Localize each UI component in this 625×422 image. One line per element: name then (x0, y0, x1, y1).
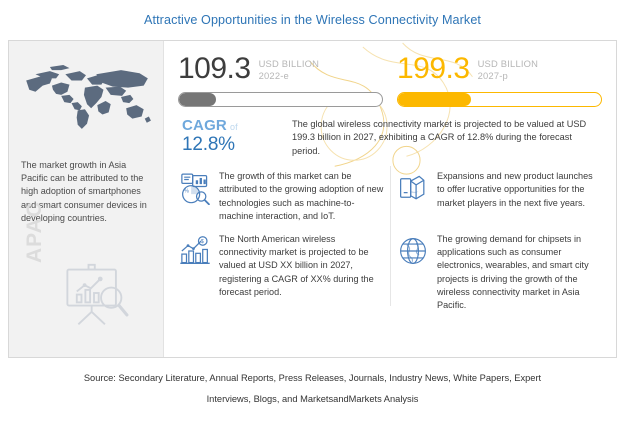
cagr-block: CAGRof 12.8% (178, 117, 282, 158)
kpi-2027: 199.3 USD BILLION 2027-p (397, 53, 602, 107)
kpi-2027-bar (397, 92, 602, 107)
bullet-item-1: % The growth of this market can be attri… (178, 170, 384, 223)
kpi-2022: 109.3 USD BILLION 2022-e (178, 53, 383, 107)
bullet-text-1: The growth of this market can be attribu… (219, 170, 384, 223)
kpi-2027-unit-group: USD BILLION 2027-p (478, 53, 539, 82)
kpi-2022-unit: USD BILLION (259, 58, 320, 69)
title-bar: Attractive Opportunities in the Wireless… (0, 0, 625, 40)
bullet-item-2: Expansions and new product launches to o… (396, 170, 602, 223)
kpi-2022-bar (178, 92, 383, 107)
bullet-text-4: The growing demand for chipsets in appli… (437, 233, 602, 312)
main-card: The market growth in Asia Pacific can be… (8, 40, 617, 358)
bar-chart-growth-dollar-icon: $ (178, 234, 212, 268)
product-launch-box-icon (396, 171, 430, 205)
kpi-2027-year: 2027-p (478, 70, 539, 82)
kpi-2022-unit-group: USD BILLION 2022-e (259, 53, 320, 82)
kpi-2022-year: 2022-e (259, 70, 320, 82)
apac-watermark-block: APAC (9, 241, 163, 351)
bullet-text-3: The North American wireless connectivity… (219, 233, 384, 299)
kpi-2027-head: 199.3 USD BILLION 2027-p (397, 53, 602, 85)
vertical-divider (390, 166, 391, 306)
kpi-2027-bar-fill (398, 93, 471, 106)
kpi-2027-value: 199.3 (397, 53, 470, 85)
page-title: Attractive Opportunities in the Wireless… (144, 13, 481, 27)
bullet-text-2: Expansions and new product launches to o… (437, 170, 602, 210)
kpi-2022-bar-fill (179, 93, 216, 106)
kpi-row: 109.3 USD BILLION 2022-e 199.3 (164, 41, 616, 107)
source-line-1: Source: Secondary Literature, Annual Rep… (0, 368, 625, 389)
cagr-value: 12.8% (182, 134, 282, 156)
intro-paragraph: The global wireless connectivity market … (292, 117, 602, 158)
presentation-chart-magnifier-icon (53, 257, 135, 329)
cagr-label: CAGRof (182, 117, 282, 134)
svg-text:$: $ (201, 239, 204, 245)
cagr-row: CAGRof 12.8% The global wireless connect… (164, 107, 616, 158)
content-panel: 109.3 USD BILLION 2022-e 199.3 (164, 41, 616, 357)
world-map-icon (20, 60, 154, 138)
source-footer: Source: Secondary Literature, Annual Rep… (0, 358, 625, 410)
cagr-of-text: of (227, 122, 238, 132)
kpi-2027-unit: USD BILLION (478, 58, 539, 69)
globe-icon (396, 234, 430, 268)
world-map-graphic (17, 55, 157, 143)
source-line-2: Interviews, Blogs, and MarketsandMarkets… (0, 389, 625, 410)
infographic-page: Attractive Opportunities in the Wireless… (0, 0, 625, 422)
svg-text:%: % (184, 189, 189, 195)
kpi-2022-value: 109.3 (178, 53, 251, 85)
bullet-grid: % The growth of this market can be attri… (164, 158, 616, 312)
cagr-label-text: CAGR (182, 117, 227, 134)
apac-panel: The market growth in Asia Pacific can be… (9, 41, 164, 357)
pie-chart-analytics-icon: % (178, 171, 212, 205)
kpi-2022-head: 109.3 USD BILLION 2022-e (178, 53, 383, 85)
bullet-item-4: The growing demand for chipsets in appli… (396, 233, 602, 312)
bullet-item-3: $ The North American wireless connectivi… (178, 233, 384, 312)
apac-watermark-label: APAC (23, 201, 47, 263)
